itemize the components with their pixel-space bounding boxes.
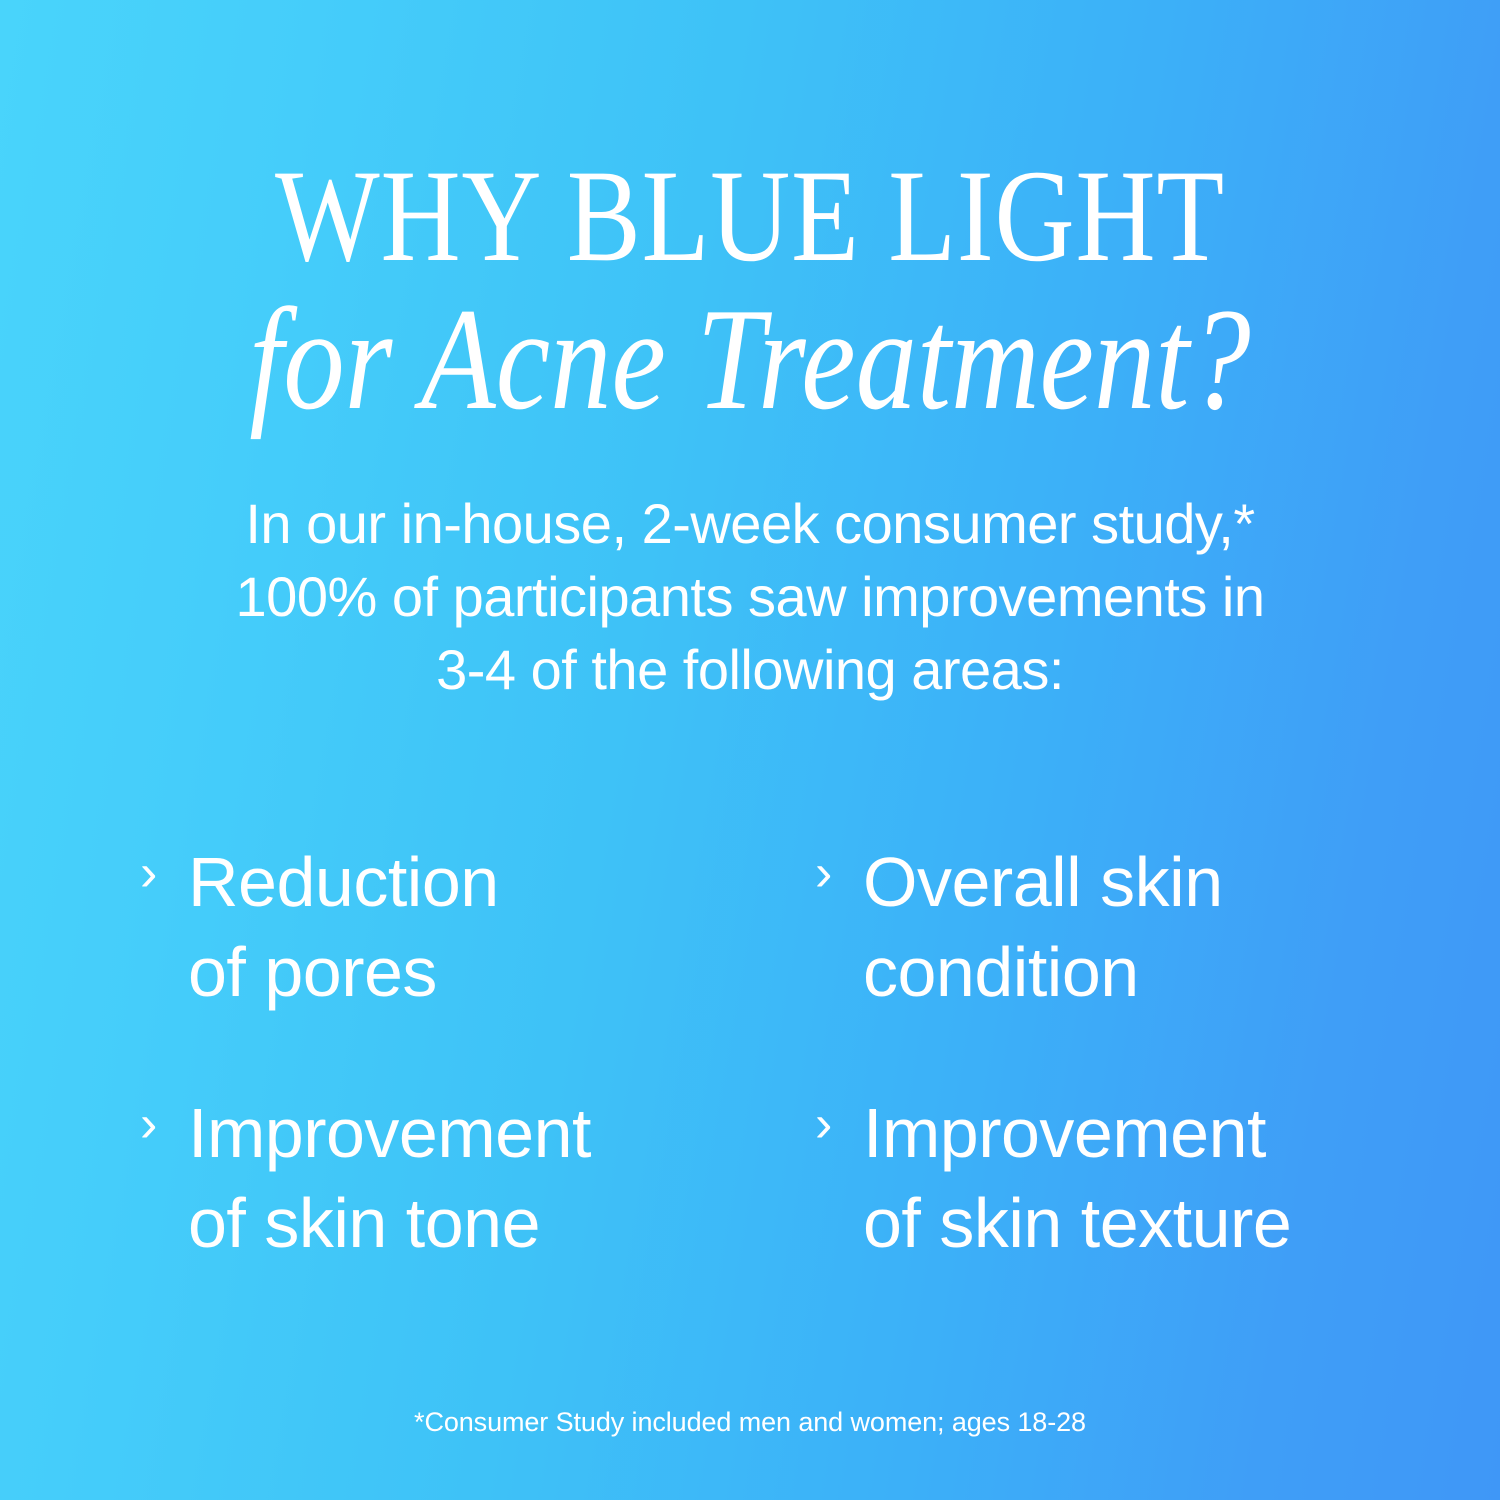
- benefit-line-1: Improvement: [188, 1089, 705, 1179]
- benefit-label: Improvement of skin texture: [863, 1089, 1380, 1268]
- page-title: WHY BLUE LIGHT for Acne Treatment?: [0, 150, 1500, 432]
- footnote-disclaimer: *Consumer Study included men and women; …: [0, 1407, 1500, 1438]
- benefit-line-1: Reduction: [188, 838, 705, 928]
- benefits-list: › Reduction of pores › Overall skin cond…: [140, 838, 1380, 1268]
- benefit-line-1: Overall skin: [863, 838, 1380, 928]
- intro-line-3: 3-4 of the following areas:: [170, 634, 1330, 707]
- benefit-line-2: of pores: [188, 928, 705, 1018]
- benefit-line-1: Improvement: [863, 1089, 1380, 1179]
- intro-line-2: 100% of participants saw improvements in: [170, 561, 1330, 634]
- promo-poster: WHY BLUE LIGHT for Acne Treatment? In ou…: [0, 0, 1500, 1500]
- benefit-item-improvement-of-skin-tone: › Improvement of skin tone: [140, 1089, 705, 1268]
- benefit-label: Overall skin condition: [863, 838, 1380, 1017]
- headline-line-1: WHY BLUE LIGHT: [120, 150, 1380, 282]
- intro-line-1: In our in-house, 2-week consumer study,*: [170, 488, 1330, 561]
- benefit-label: Improvement of skin tone: [188, 1089, 705, 1268]
- chevron-right-icon: ›: [140, 1091, 157, 1158]
- benefit-item-reduction-of-pores: › Reduction of pores: [140, 838, 705, 1017]
- benefit-label: Reduction of pores: [188, 838, 705, 1017]
- benefit-line-2: of skin texture: [863, 1179, 1380, 1269]
- benefit-line-2: of skin tone: [188, 1179, 705, 1269]
- benefit-line-2: condition: [863, 928, 1380, 1018]
- chevron-right-icon: ›: [140, 840, 157, 907]
- chevron-right-icon: ›: [815, 840, 832, 907]
- benefit-item-overall-skin-condition: › Overall skin condition: [815, 838, 1380, 1017]
- intro-paragraph: In our in-house, 2-week consumer study,*…: [170, 488, 1330, 706]
- headline-line-2: for Acne Treatment?: [120, 286, 1380, 432]
- chevron-right-icon: ›: [815, 1091, 832, 1158]
- benefit-item-improvement-of-skin-texture: › Improvement of skin texture: [815, 1089, 1380, 1268]
